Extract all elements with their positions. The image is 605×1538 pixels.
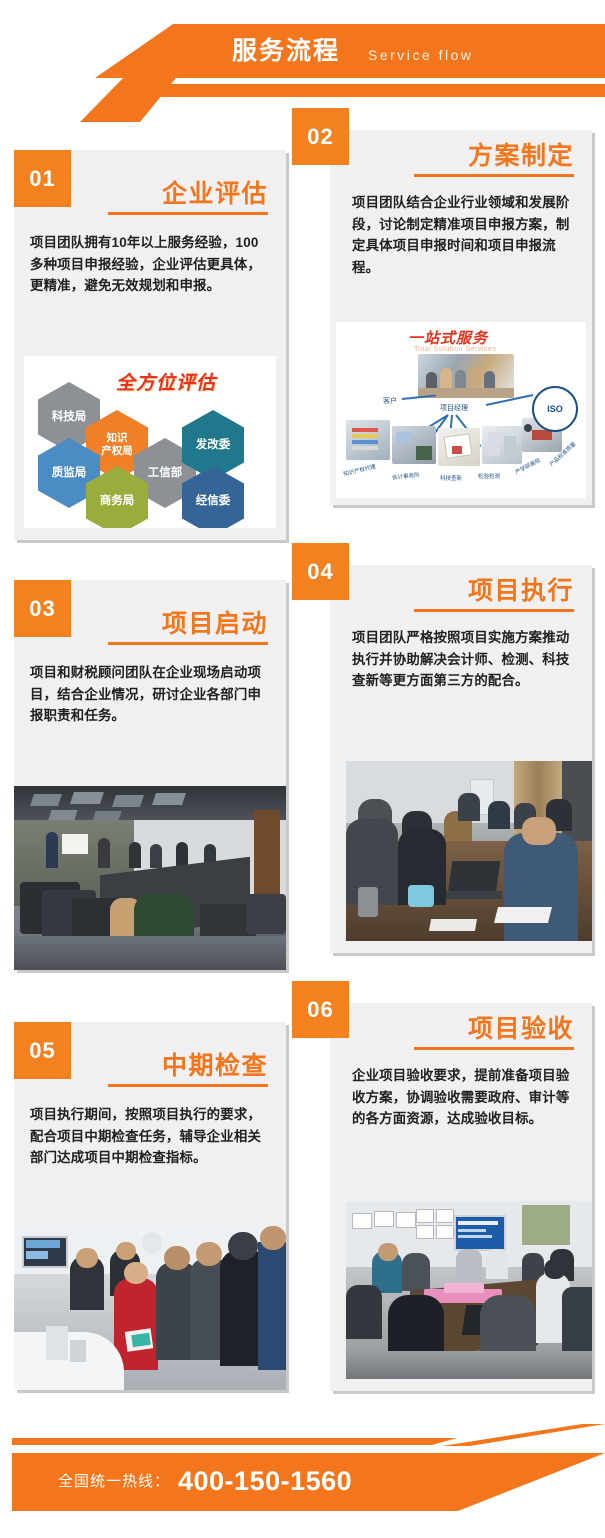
- step-card-06: 06 项目验收 企业项目验收要求，提前准备项目验收方案，协调验收需要政府、审计等…: [330, 1003, 592, 1391]
- one-stop-iso-seal: ISO: [532, 386, 578, 432]
- header-banner: [95, 24, 605, 78]
- title-underline-05: [108, 1084, 268, 1087]
- title-underline-04: [414, 609, 574, 612]
- step-number-badge-02: 02: [292, 108, 349, 165]
- step-number-badge-05: 05: [14, 1022, 71, 1079]
- meeting-laptops-photo: [346, 761, 592, 941]
- one-stop-bottom-label-3: 检验检测: [478, 472, 500, 480]
- one-stop-title: 一站式服务: [408, 327, 488, 348]
- step-number-badge-06: 06: [292, 981, 349, 1038]
- step-card-03: 03 项目启动 项目和财税顾问团队在企业现场启动项目，结合企业情况，研讨企业各部…: [14, 580, 286, 970]
- hexagon-assessment-diagram: 全方位评估 科技局 知识产权局 质监局 工信部 商务局 发改委 经信委: [24, 356, 276, 528]
- step-number-badge-01: 01: [14, 150, 71, 207]
- title-underline-01: [108, 212, 268, 215]
- one-stop-label-manager: 项目经理: [440, 403, 468, 413]
- step-title-04: 项目执行: [374, 571, 574, 607]
- footer-rule-slant: [430, 1424, 605, 1446]
- step-card-04: 04 项目执行 项目团队严格按照项目实施方案推动执行并协助解决会计师、检测、科技…: [330, 565, 592, 953]
- title-underline-03: [108, 642, 268, 645]
- one-stop-thumb-testing: [482, 426, 522, 464]
- one-stop-bottom-label-0: 知识产权代理: [343, 462, 377, 478]
- header-stripe: [108, 84, 605, 97]
- step-number-badge-03: 03: [14, 580, 71, 637]
- title-underline-06: [414, 1047, 574, 1050]
- step-card-05: 05 中期检查 项目执行期间，按照项目执行的要求，配合项目中期检查任务，辅导企业…: [14, 1022, 286, 1390]
- step-number-badge-04: 04: [292, 543, 349, 600]
- step-title-02: 方案制定: [374, 136, 574, 172]
- step-body-02: 项目团队结合企业行业领域和发展阶段，讨论制定精准项目申报方案，制定具体项目申报时…: [352, 192, 578, 278]
- one-stop-thumb-search: [438, 428, 480, 466]
- step-card-01: 01 企业评估 项目团队拥有10年以上服务经验，100多种项目申报经验，企业评估…: [14, 150, 286, 540]
- one-stop-bottom-label-2: 科技查新: [440, 474, 462, 482]
- conference-room-kickoff-photo: [14, 786, 286, 970]
- footer-rule: [12, 1438, 457, 1445]
- page-header: 服务流程 Service flow: [0, 0, 605, 112]
- page-title: 服务流程: [232, 30, 340, 72]
- step-body-05: 项目执行期间，按照项目执行的要求，配合项目中期检查任务，辅导企业相关部门达成项目…: [30, 1104, 270, 1169]
- hotline-label: 全国统一热线：: [58, 1468, 170, 1496]
- step-body-01: 项目团队拥有10年以上服务经验，100多种项目申报经验，企业评估更具体，更精准，…: [30, 232, 270, 297]
- title-underline-02: [414, 174, 574, 177]
- one-stop-hero-photo: [418, 354, 514, 398]
- step-title-05: 中期检查: [68, 1046, 268, 1082]
- step-title-06: 项目验收: [374, 1009, 574, 1045]
- one-stop-subtitle: Total Solution Services: [414, 346, 496, 353]
- hotline-phone: 400-150-1560: [178, 1462, 352, 1500]
- page-subtitle: Service flow: [368, 38, 473, 72]
- step-title-01: 企业评估: [68, 174, 268, 210]
- one-stop-bottom-label-1: 会计事务所: [392, 471, 420, 482]
- hexagon-diagram-title: 全方位评估: [116, 368, 216, 395]
- one-stop-thumb-accounting: [392, 426, 436, 464]
- acceptance-review-meeting-photo: [346, 1201, 592, 1379]
- step-body-06: 企业项目验收要求，提前准备项目验收方案，协调验收需要政府、审计等的各方面资源，达…: [352, 1065, 576, 1130]
- one-stop-label-customer: 客户: [383, 396, 397, 406]
- step-body-04: 项目团队严格按照项目实施方案推动执行并协助解决会计师、检测、科技查新等更方面第三…: [352, 627, 576, 692]
- showroom-site-visit-photo: [14, 1222, 286, 1390]
- one-stop-thumb-ip: [346, 420, 390, 460]
- step-body-03: 项目和财税顾问团队在企业现场启动项目，结合企业情况，研讨企业各部门申报职责和任务…: [30, 662, 270, 727]
- step-title-03: 项目启动: [68, 604, 268, 640]
- one-stop-service-diagram: 一站式服务 Total Solution Services 客户 项目经理: [336, 322, 586, 498]
- step-card-02: 02 方案制定 项目团队结合企业行业领域和发展阶段，讨论制定精准项目申报方案，制…: [330, 130, 592, 505]
